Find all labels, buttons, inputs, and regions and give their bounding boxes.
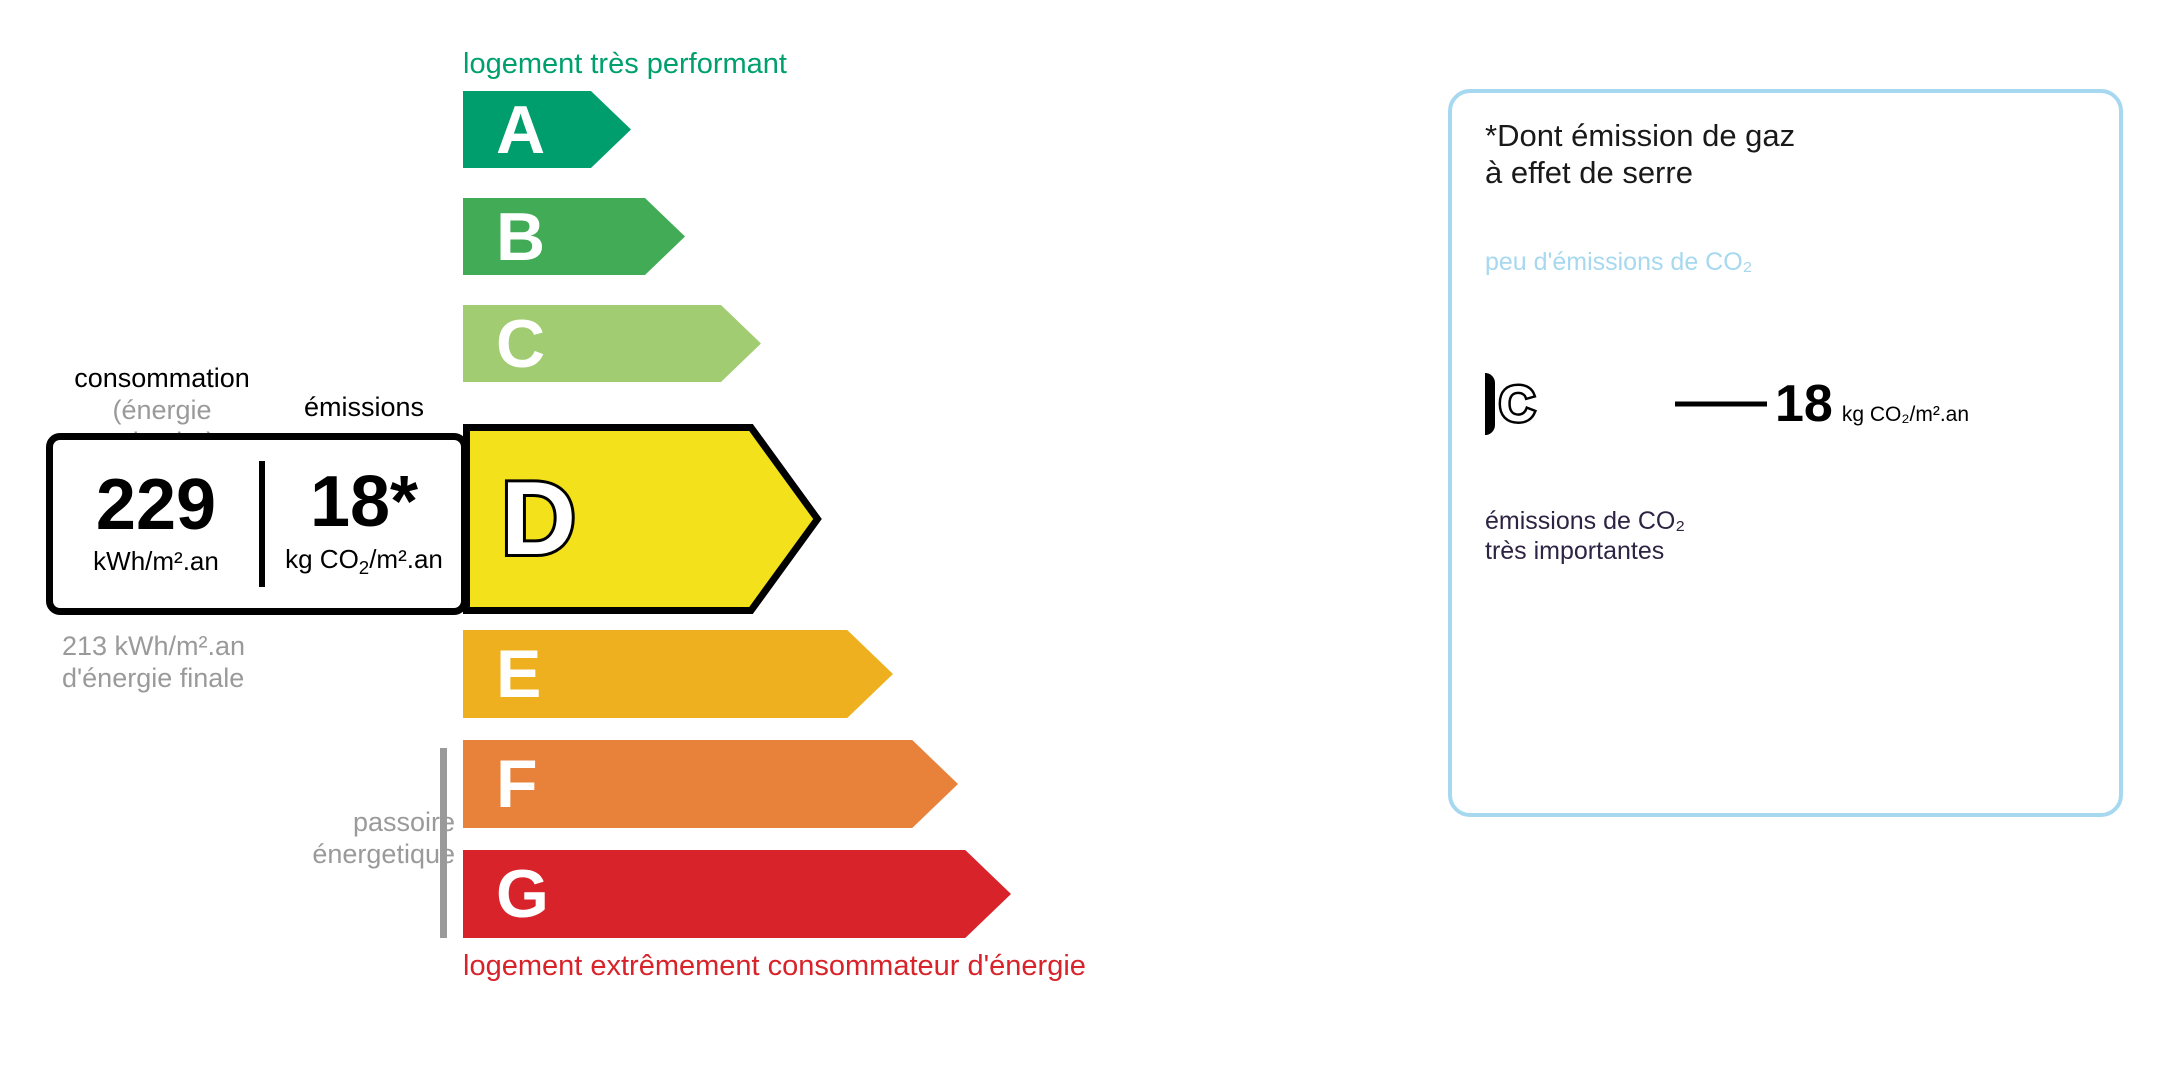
co2-panel: *Dont émission de gaz à effet de serre p… [1448,89,2123,817]
co2-title-line2: à effet de serre [1485,154,1795,191]
co2-letter-a: A [1496,285,1518,315]
energy-performance-scale: logement très performant ABCDEFG logemen… [0,0,1400,1079]
energy-band-a: A [463,91,631,168]
energy-band-letter-a: A [496,96,545,164]
value-box: 229 kWh/m².an 18* kg CO2/m².an [46,433,468,615]
passoire-line1: passoire [190,806,455,838]
co2-panel-title: *Dont émission de gaz à effet de serre [1485,117,1795,191]
final-energy-line1: 213 kWh/m².an [62,630,245,662]
final-energy-line2: d'énergie finale [62,662,245,694]
emission-unit: kg CO2/m².an [285,544,443,579]
consumption-label-main: consommation [74,363,250,393]
co2-letter-c: C [1499,379,1535,429]
co2-bottom-line1: émissions de CO₂ [1485,506,1685,536]
emission-cell: 18* kg CO2/m².an [265,440,463,608]
co2-row-c: C18kg CO₂/m².an [1485,373,1667,435]
primary-energy-value: 229 [96,471,216,541]
co2-letter-b: B [1496,329,1518,359]
co2-letter-d: D [1496,448,1518,478]
energy-band-d: D [463,424,821,614]
energy-band-letter-c: C [496,310,545,378]
co2-callout-line [1675,402,1767,407]
co2-callout-value: 18kg CO₂/m².an [1775,378,1969,430]
co2-row-b: B [1485,325,1631,363]
energy-band-letter-g: G [496,860,549,928]
energy-bottom-caption: logement extrêmement consommateur d'éner… [463,950,1086,983]
co2-bottom-caption: émissions de CO₂ très importantes [1485,506,1685,566]
energy-band-letter-f: F [496,750,538,818]
co2-row-g: G [1485,587,1797,627]
energy-top-caption: logement très performant [463,48,787,81]
energy-band-c: C [463,305,761,382]
energy-band-e: E [463,630,893,718]
energy-band-g: G [463,850,1011,938]
primary-energy-cell: 229 kWh/m².an [53,440,259,608]
energy-band-shape-a [463,91,631,168]
energy-band-f: F [463,740,958,828]
co2-bar-c [1485,373,1495,435]
co2-row-d: D [1485,443,1697,483]
co2-letter-g: G [1496,592,1519,622]
primary-energy-unit: kWh/m².an [93,546,219,577]
energy-band-letter-b: B [496,203,545,271]
co2-row-a: A [1485,283,1599,317]
co2-bottom-line2: très importantes [1485,536,1685,566]
co2-title-line1: *Dont émission de gaz [1485,117,1795,154]
passoire-label: passoire énergetique [190,806,455,871]
energy-band-letter-e: E [496,640,541,708]
co2-top-caption: peu d'émissions de CO₂ [1485,248,1752,277]
dpe-chart: logement très performant ABCDEFG logemen… [0,0,2169,1079]
co2-callout-unit: kg CO₂/m².an [1842,403,1969,427]
co2-callout-number: 18 [1775,378,1833,430]
energy-band-b: B [463,198,685,275]
energy-band-letter-d: D [501,467,576,571]
passoire-line2: énergetique [190,838,455,870]
emission-value: 18* [310,468,418,538]
emissions-label: émissions [304,392,424,423]
final-energy-note: 213 kWh/m².an d'énergie finale [62,630,245,695]
